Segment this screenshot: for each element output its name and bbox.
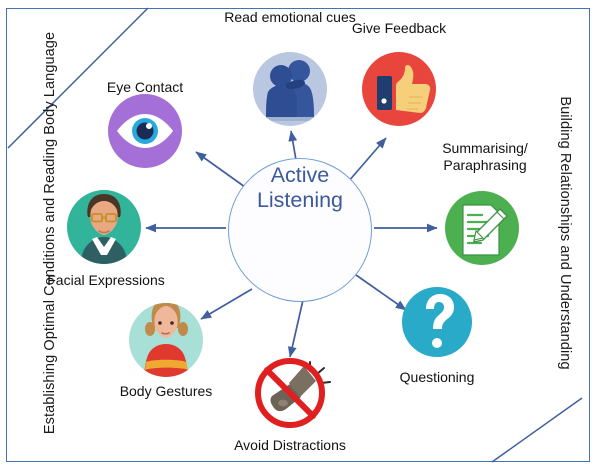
connector-to-body-gestures <box>201 289 252 319</box>
two-people-hugging-icon <box>253 52 327 126</box>
label-eye-contact: Eye Contact <box>85 79 205 96</box>
hub-title: Active Listening <box>228 163 372 213</box>
hub-title-line2: Listening <box>228 188 372 213</box>
eye-icon <box>108 94 182 168</box>
label-questioning: Questioning <box>382 369 492 386</box>
no-megaphone-icon <box>256 359 330 427</box>
label-summarising-paraphrasing: Summarising/ Paraphrasing <box>420 140 550 173</box>
document-pencil-icon <box>445 191 519 265</box>
label-body-gestures: Body Gestures <box>106 383 226 400</box>
crossed-arms-person-icon <box>129 299 203 384</box>
man-with-glasses-icon <box>67 190 141 270</box>
side-caption-right: Building Relationships and Understanding <box>557 23 573 443</box>
label-avoid-distractions: Avoid Distractions <box>220 437 360 454</box>
connector-to-read-emotional-cues <box>291 131 296 160</box>
question-mark-icon <box>402 287 472 357</box>
connector-to-questioning <box>356 275 406 310</box>
connector-to-avoid-distractions <box>290 300 303 357</box>
hub-title-line1: Active <box>228 163 372 188</box>
thumbs-up-icon <box>362 52 436 126</box>
active-listening-diagram: Active Listening Read emotional cues Giv… <box>0 0 600 475</box>
label-give-feedback: Give Feedback <box>339 20 459 37</box>
side-caption-left: Establishing Optimal Conditions and Read… <box>42 23 58 443</box>
